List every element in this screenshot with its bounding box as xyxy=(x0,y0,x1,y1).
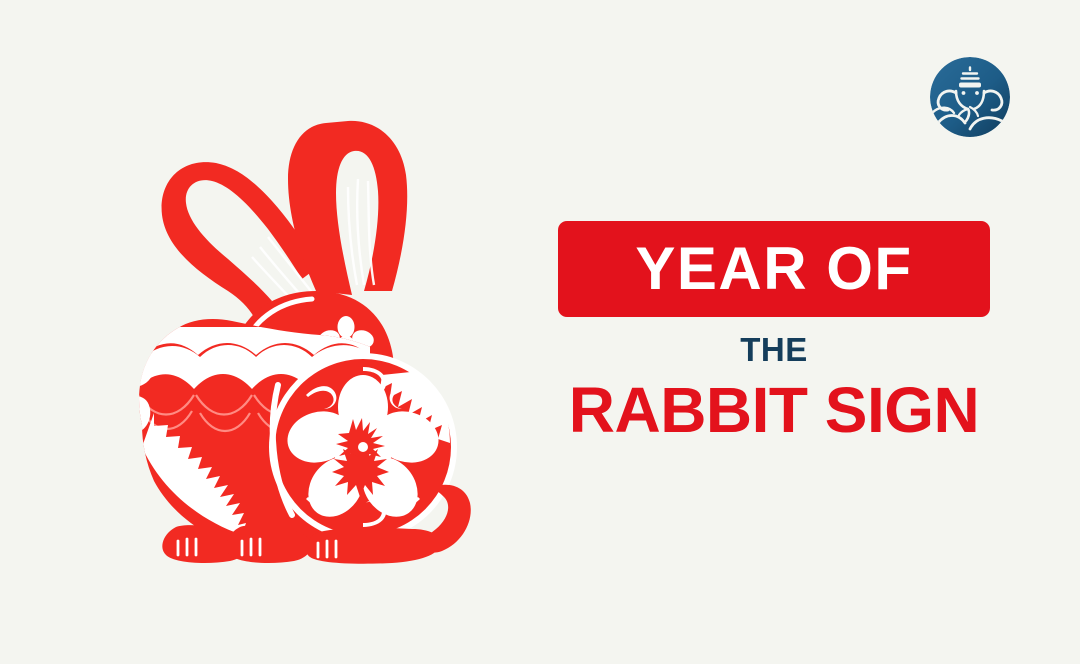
logo-eye-right xyxy=(975,91,979,95)
headline-banner: YEAR OF xyxy=(558,221,990,317)
headline-sub-text: THE xyxy=(558,333,990,366)
headline-main-text: RABBIT SIGN xyxy=(558,378,990,442)
brand-logo[interactable] xyxy=(930,57,1010,137)
rabbit-body-group xyxy=(120,121,471,564)
poster-canvas: YEAR OF THE RABBIT SIGN xyxy=(0,0,1080,664)
logo-eye-left xyxy=(962,91,966,95)
headline-block: YEAR OF THE RABBIT SIGN xyxy=(558,221,990,442)
rabbit-illustration xyxy=(120,95,500,565)
headline-banner-text: YEAR OF xyxy=(635,239,912,299)
